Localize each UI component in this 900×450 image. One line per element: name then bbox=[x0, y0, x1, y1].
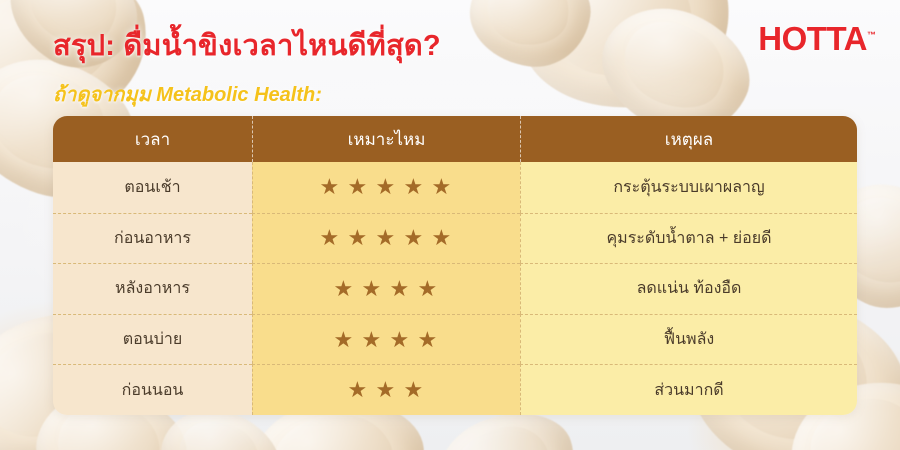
star-icon: ★ bbox=[376, 379, 398, 401]
cell-time: ตอนเช้า bbox=[53, 162, 252, 213]
cell-rating: ★★★★★ bbox=[252, 162, 520, 213]
table-body: ตอนเช้า★★★★★กระตุ้นระบบเผาผลาญก่อนอาหาร★… bbox=[53, 162, 857, 415]
cell-reason: ลดแน่น ท้องอืด bbox=[520, 263, 857, 314]
star-icon: ★ bbox=[432, 227, 454, 249]
table-row: ก่อนอาหาร★★★★★คุมระดับน้ำตาล + ย่อยดี bbox=[53, 213, 857, 264]
star-rating: ★★★★★ bbox=[320, 227, 454, 249]
cell-time: หลังอาหาร bbox=[53, 263, 252, 314]
table-header-row: เวลา เหมาะไหม เหตุผล bbox=[53, 116, 857, 162]
star-icon: ★ bbox=[362, 278, 384, 300]
cell-rating: ★★★ bbox=[252, 364, 520, 415]
column-header-time: เวลา bbox=[53, 116, 252, 162]
table-row: ตอนบ่าย★★★★ฟื้นพลัง bbox=[53, 314, 857, 365]
cell-rating: ★★★★ bbox=[252, 263, 520, 314]
table-row: ก่อนนอน★★★ส่วนมากดี bbox=[53, 364, 857, 415]
star-icon: ★ bbox=[348, 176, 370, 198]
cell-reason: ฟื้นพลัง bbox=[520, 314, 857, 365]
comparison-table: เวลา เหมาะไหม เหตุผล ตอนเช้า★★★★★กระตุ้น… bbox=[53, 116, 857, 415]
star-icon: ★ bbox=[362, 329, 384, 351]
cell-time: ตอนบ่าย bbox=[53, 314, 252, 365]
star-icon: ★ bbox=[334, 278, 356, 300]
star-icon: ★ bbox=[390, 329, 412, 351]
page-title: สรุป: ดื่มน้ำขิงเวลาไหนดีที่สุด? bbox=[53, 22, 441, 68]
star-icon: ★ bbox=[376, 227, 398, 249]
star-icon: ★ bbox=[348, 227, 370, 249]
star-icon: ★ bbox=[320, 227, 342, 249]
star-icon: ★ bbox=[348, 379, 370, 401]
star-icon: ★ bbox=[418, 329, 440, 351]
cell-reason: ส่วนมากดี bbox=[520, 364, 857, 415]
header-banner: สรุป: ดื่มน้ำขิงเวลาไหนดีที่สุด? ถ้าดูจา… bbox=[0, 0, 900, 116]
cell-reason: คุมระดับน้ำตาล + ย่อยดี bbox=[520, 213, 857, 264]
star-icon: ★ bbox=[404, 227, 426, 249]
star-icon: ★ bbox=[320, 176, 342, 198]
star-rating: ★★★ bbox=[348, 379, 426, 401]
star-icon: ★ bbox=[432, 176, 454, 198]
star-rating: ★★★★ bbox=[334, 329, 440, 351]
star-icon: ★ bbox=[404, 379, 426, 401]
star-icon: ★ bbox=[404, 176, 426, 198]
cell-reason: กระตุ้นระบบเผาผลาญ bbox=[520, 162, 857, 213]
star-icon: ★ bbox=[334, 329, 356, 351]
star-icon: ★ bbox=[390, 278, 412, 300]
cell-time: ก่อนนอน bbox=[53, 364, 252, 415]
star-rating: ★★★★ bbox=[334, 278, 440, 300]
cell-rating: ★★★★★ bbox=[252, 213, 520, 264]
column-header-rating: เหมาะไหม bbox=[252, 116, 520, 162]
hotta-logo: HOTTA™ bbox=[758, 22, 876, 55]
star-icon: ★ bbox=[376, 176, 398, 198]
cell-rating: ★★★★ bbox=[252, 314, 520, 365]
page-subtitle: ถ้าดูจากมุม Metabolic Health: bbox=[53, 78, 322, 110]
logo-wordmark: HOTTA bbox=[758, 20, 867, 57]
cell-time: ก่อนอาหาร bbox=[53, 213, 252, 264]
star-rating: ★★★★★ bbox=[320, 176, 454, 198]
trademark-symbol: ™ bbox=[867, 30, 876, 40]
star-icon: ★ bbox=[418, 278, 440, 300]
column-header-reason: เหตุผล bbox=[520, 116, 857, 162]
table-row: หลังอาหาร★★★★ลดแน่น ท้องอืด bbox=[53, 263, 857, 314]
table-row: ตอนเช้า★★★★★กระตุ้นระบบเผาผลาญ bbox=[53, 162, 857, 213]
